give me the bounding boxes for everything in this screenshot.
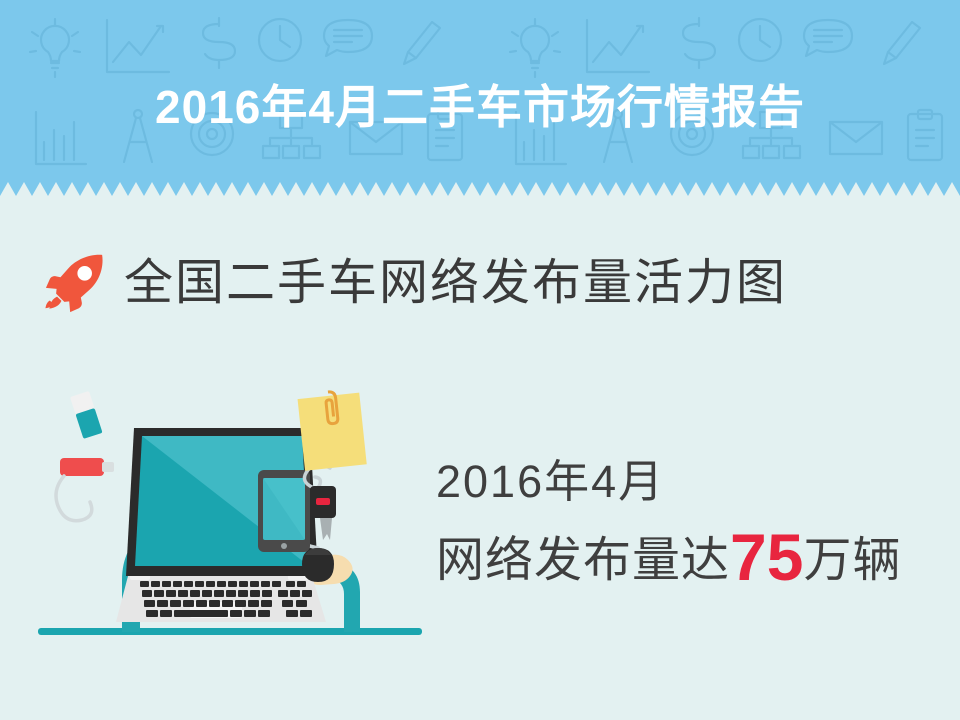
stat-block: 2016年4月 网络发布量达75万辆 (436, 452, 946, 592)
stat-headline: 网络发布量达75万辆 (436, 526, 946, 592)
header-banner: 2016年4月二手车市场行情报告 (0, 0, 960, 196)
tablet (258, 470, 310, 552)
desk-workspace-illustration (30, 380, 430, 652)
rocket-icon (44, 252, 106, 314)
section-header: 全国二手车网络发布量活力图 (44, 252, 787, 314)
stat-prefix: 网络发布量达 (436, 534, 730, 587)
page-title: 2016年4月二手车市场行情报告 (0, 78, 960, 136)
usb-drive-red (56, 458, 114, 521)
banner-zigzag-edge (0, 180, 960, 196)
stat-period: 2016年4月 (436, 452, 946, 512)
usb-drive-teal (70, 391, 103, 439)
sticky-note (297, 389, 367, 471)
section-title: 全国二手车网络发布量活力图 (124, 255, 787, 311)
desk-line (38, 628, 422, 635)
stat-suffix: 万辆 (803, 534, 901, 587)
stat-number: 75 (730, 520, 803, 594)
slide-root: 2016年4月二手车市场行情报告 全国二手车网络发布量活力图 (0, 0, 960, 720)
